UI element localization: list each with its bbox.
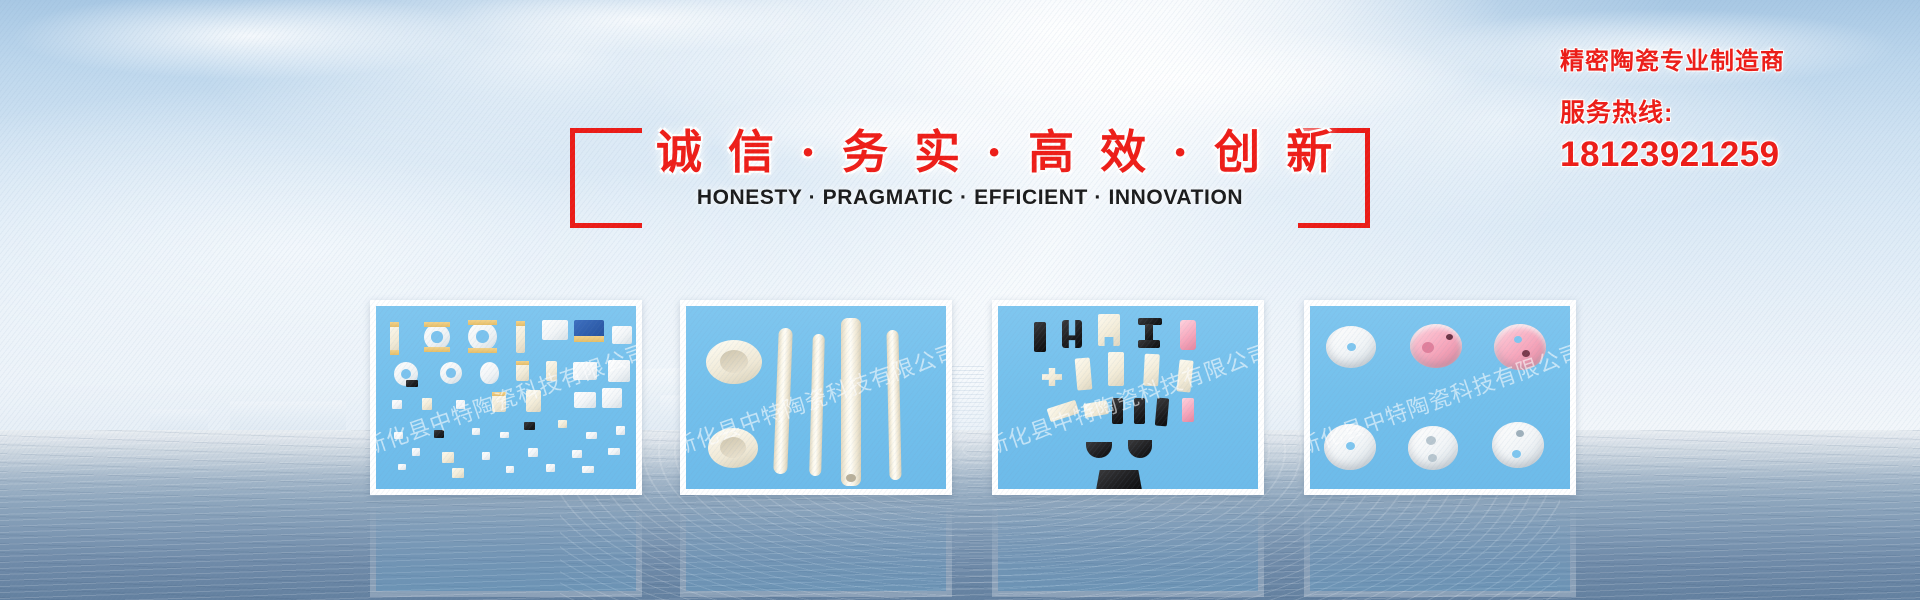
panel-reflection xyxy=(1304,501,1576,597)
panel-image-area: 新化县中特陶瓷科技有限公司 xyxy=(1310,306,1570,489)
hotline-phone-number[interactable]: 18123921259 xyxy=(1560,135,1890,175)
disc-bore xyxy=(1346,442,1355,450)
ceramic-base-plate xyxy=(1096,470,1142,489)
chip-part xyxy=(472,428,480,435)
ceramic-block xyxy=(1075,357,1093,390)
chip-part xyxy=(542,320,568,340)
chip-part xyxy=(480,362,499,384)
chip-part xyxy=(546,361,557,381)
ceramic-curved-tile xyxy=(1086,442,1112,458)
disc-bore xyxy=(1422,342,1434,353)
ceramic-cross xyxy=(1042,368,1062,386)
disc-bore xyxy=(1426,436,1436,445)
chip-part xyxy=(516,361,529,365)
chip-part xyxy=(482,452,490,460)
disc-bore xyxy=(1428,454,1437,462)
chip-part xyxy=(572,450,582,458)
disc-bore xyxy=(1446,334,1453,340)
product-panel-ceramic-tubes-rings[interactable]: 新化县中特陶瓷科技有限公司 xyxy=(680,300,952,495)
hero-banner: 诚 信 · 务 实 · 高 效 · 创 新 HONESTY · PRAGMATI… xyxy=(0,0,1920,600)
tube-bore xyxy=(846,474,856,482)
chip-part xyxy=(616,426,625,435)
disc-bore xyxy=(1516,430,1524,437)
ceramic-curved-tile xyxy=(1128,440,1152,458)
ceramic-block xyxy=(1083,400,1109,418)
chip-part xyxy=(456,400,465,409)
ceramic-block-pink xyxy=(1182,398,1194,422)
ceramic-block xyxy=(1143,354,1160,387)
chip-part xyxy=(434,430,444,438)
slogan-english: HONESTY · PRAGMATIC · EFFICIENT · INNOVA… xyxy=(656,186,1284,210)
ceramic-block xyxy=(1134,398,1145,424)
ceramic-rod xyxy=(886,330,901,480)
ceramic-block xyxy=(1047,400,1080,423)
chip-part xyxy=(602,388,622,408)
chip-part xyxy=(390,322,399,327)
panel-image-area: 新化县中特陶瓷科技有限公司 xyxy=(376,306,636,489)
ceramic-disc-white xyxy=(1492,422,1544,468)
ceramic-block xyxy=(1034,322,1046,352)
chip-part xyxy=(398,464,406,470)
chip-part xyxy=(424,322,450,327)
ceramic-ring-small-bore xyxy=(720,437,746,458)
panel-reflection xyxy=(370,501,642,597)
chip-part xyxy=(412,448,420,456)
chip-part xyxy=(390,350,399,355)
chip-part xyxy=(442,452,454,463)
chip-part xyxy=(422,398,432,410)
chip-part xyxy=(468,320,497,325)
disc-bore xyxy=(1347,343,1356,351)
chip-part xyxy=(406,380,418,387)
chip-part xyxy=(608,360,630,382)
chip-part xyxy=(492,392,506,396)
chip-part xyxy=(546,464,555,472)
bracket-left-icon xyxy=(570,128,642,228)
ceramic-block xyxy=(1155,398,1169,427)
slogan-chinese: 诚 信 · 务 实 · 高 效 · 创 新 xyxy=(656,116,1284,182)
chip-part xyxy=(516,321,525,326)
ceramic-disc-pink xyxy=(1494,324,1546,370)
chip-part xyxy=(573,362,597,380)
product-panel-ceramic-blocks[interactable]: 新化县中特陶瓷科技有限公司 xyxy=(992,300,1264,495)
contact-block: 精密陶瓷专业制造商 服务热线: 18123921259 xyxy=(1560,48,1890,175)
ceramic-ring-large-bore xyxy=(720,350,748,373)
chip-part xyxy=(608,448,620,455)
ceramic-block-u xyxy=(1062,320,1082,348)
chip-part xyxy=(424,347,450,352)
ceramic-rod xyxy=(809,334,825,476)
product-panel-smd-chip-components[interactable]: 新化县中特陶瓷科技有限公司 xyxy=(370,300,642,495)
slogan-block: 诚 信 · 务 实 · 高 效 · 创 新 HONESTY · PRAGMATI… xyxy=(570,128,1370,248)
ceramic-disc-pink xyxy=(1410,324,1462,368)
chip-part xyxy=(500,432,509,438)
panel-reflection xyxy=(992,501,1264,597)
chip-part xyxy=(392,400,402,409)
ceramic-block xyxy=(1112,398,1123,424)
ceramic-rod xyxy=(773,328,793,474)
chip-part xyxy=(574,336,604,342)
chip-part xyxy=(582,466,594,473)
disc-bore xyxy=(1512,450,1521,458)
ceramic-block xyxy=(1108,352,1124,386)
ceramic-block xyxy=(1176,359,1193,392)
chip-part xyxy=(394,432,403,439)
ceramic-block-dumbbell xyxy=(1138,340,1160,348)
chip-part xyxy=(574,392,596,408)
ceramic-tube-large xyxy=(841,318,861,486)
ceramic-disc-white xyxy=(1408,426,1458,470)
ceramic-block-pink xyxy=(1180,320,1196,350)
chip-part xyxy=(524,422,535,430)
panel-reflection xyxy=(680,501,952,597)
ceramic-block-slotted xyxy=(1098,314,1120,346)
chip-part xyxy=(526,390,541,412)
panel-image-area: 新化县中特陶瓷科技有限公司 xyxy=(686,306,946,489)
company-tagline: 精密陶瓷专业制造商 xyxy=(1560,48,1890,77)
chip-part xyxy=(558,420,567,428)
hotline-label: 服务热线: xyxy=(1560,93,1890,129)
disc-bore xyxy=(1514,336,1522,343)
disc-bore xyxy=(1522,350,1530,357)
panel-image-area: 新化县中特陶瓷科技有限公司 xyxy=(998,306,1258,489)
chip-ring xyxy=(468,322,497,351)
chip-part xyxy=(586,432,597,439)
product-panel-ceramic-discs[interactable]: 新化县中特陶瓷科技有限公司 xyxy=(1304,300,1576,495)
chip-ring xyxy=(440,362,462,384)
image-watermark: 新化县中特陶瓷科技有限公司 xyxy=(376,334,636,462)
chip-part xyxy=(528,448,538,457)
chip-part xyxy=(612,326,632,344)
chip-part xyxy=(452,468,464,478)
chip-part xyxy=(506,466,514,473)
chip-part xyxy=(468,348,497,353)
